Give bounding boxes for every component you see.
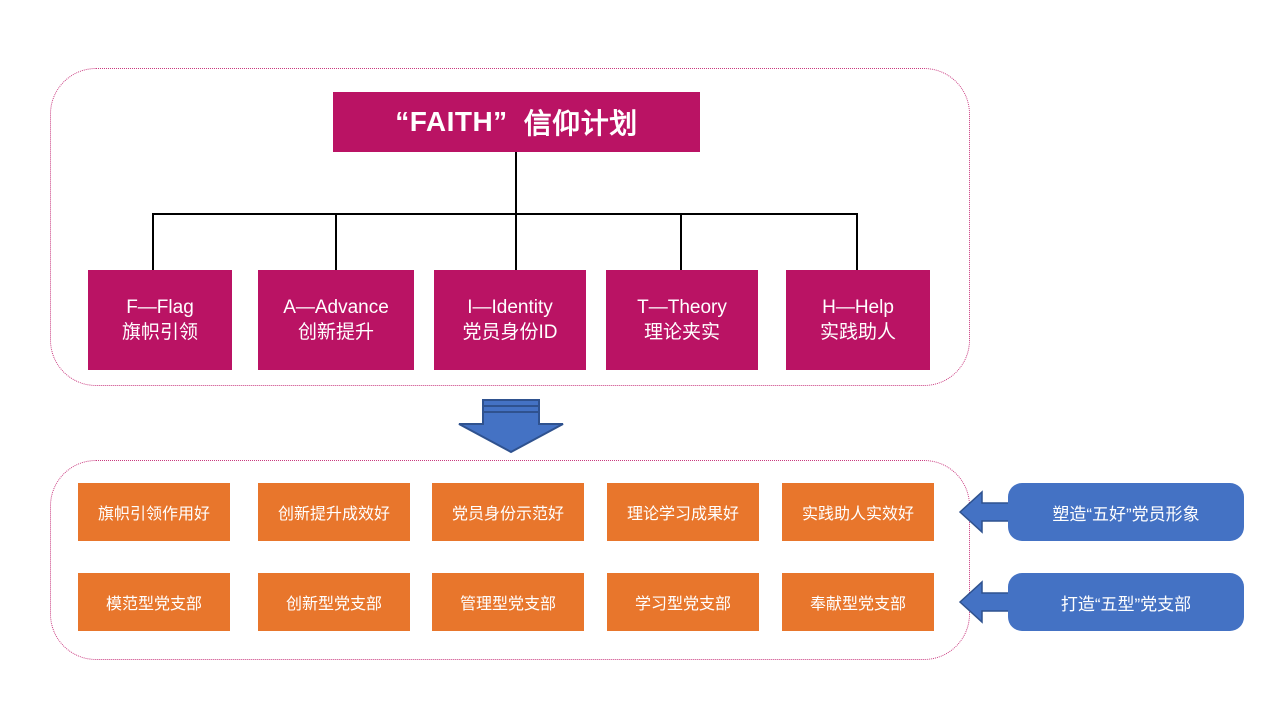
callout-branch-type[interactable]: 打造“五型”党支部	[1008, 573, 1244, 631]
plan-title-en: “FAITH”	[395, 106, 507, 138]
plan-title-box[interactable]: “FAITH” 信仰计划	[333, 92, 700, 152]
outcome-box[interactable]: 实践助人实效好	[782, 483, 934, 541]
connector-drop-0	[152, 213, 154, 270]
branch-type-box[interactable]: 奉献型党支部	[782, 573, 934, 631]
pillar-label-cn: 理论夹实	[644, 320, 720, 345]
pillar-label-cn: 创新提升	[298, 320, 374, 345]
left-arrow-icon	[958, 578, 1014, 626]
connector-drop-4	[856, 213, 858, 270]
branch-type-box[interactable]: 创新型党支部	[258, 573, 410, 631]
branch-type-box[interactable]: 学习型党支部	[607, 573, 759, 631]
pillar-label-en: I—Identity	[467, 295, 553, 320]
outcome-box[interactable]: 理论学习成果好	[607, 483, 759, 541]
branch-type-box[interactable]: 模范型党支部	[78, 573, 230, 631]
left-arrow-icon	[958, 488, 1014, 536]
down-arrow-icon	[455, 392, 567, 454]
pillar-label-en: T—Theory	[637, 295, 727, 320]
connector-drop-2	[515, 213, 517, 270]
pillar-label-en: A—Advance	[283, 295, 389, 320]
diagram-canvas: “FAITH” 信仰计划 F—Flag 旗帜引领 A—Advance 创新提升 …	[0, 0, 1280, 720]
outcome-box[interactable]: 旗帜引领作用好	[78, 483, 230, 541]
pillar-box-advance[interactable]: A—Advance 创新提升	[258, 270, 414, 370]
pillar-box-identity[interactable]: I—Identity 党员身份ID	[434, 270, 586, 370]
pillar-label-cn: 实践助人	[820, 320, 896, 345]
connector-stem	[515, 152, 517, 214]
pillar-label-en: H—Help	[822, 295, 894, 320]
pillar-label-cn: 旗帜引领	[122, 320, 198, 345]
branch-type-box[interactable]: 管理型党支部	[432, 573, 584, 631]
connector-drop-1	[335, 213, 337, 270]
connector-drop-3	[680, 213, 682, 270]
callout-member-image[interactable]: 塑造“五好”党员形象	[1008, 483, 1244, 541]
plan-title-cn: 信仰计划	[524, 102, 638, 142]
pillar-box-theory[interactable]: T—Theory 理论夹实	[606, 270, 758, 370]
pillar-box-flag[interactable]: F—Flag 旗帜引领	[88, 270, 232, 370]
pillar-label-cn: 党员身份ID	[462, 320, 557, 345]
connector-bus	[152, 213, 858, 215]
outcome-box[interactable]: 党员身份示范好	[432, 483, 584, 541]
outcome-box[interactable]: 创新提升成效好	[258, 483, 410, 541]
pillar-box-help[interactable]: H—Help 实践助人	[786, 270, 930, 370]
pillar-label-en: F—Flag	[126, 295, 194, 320]
